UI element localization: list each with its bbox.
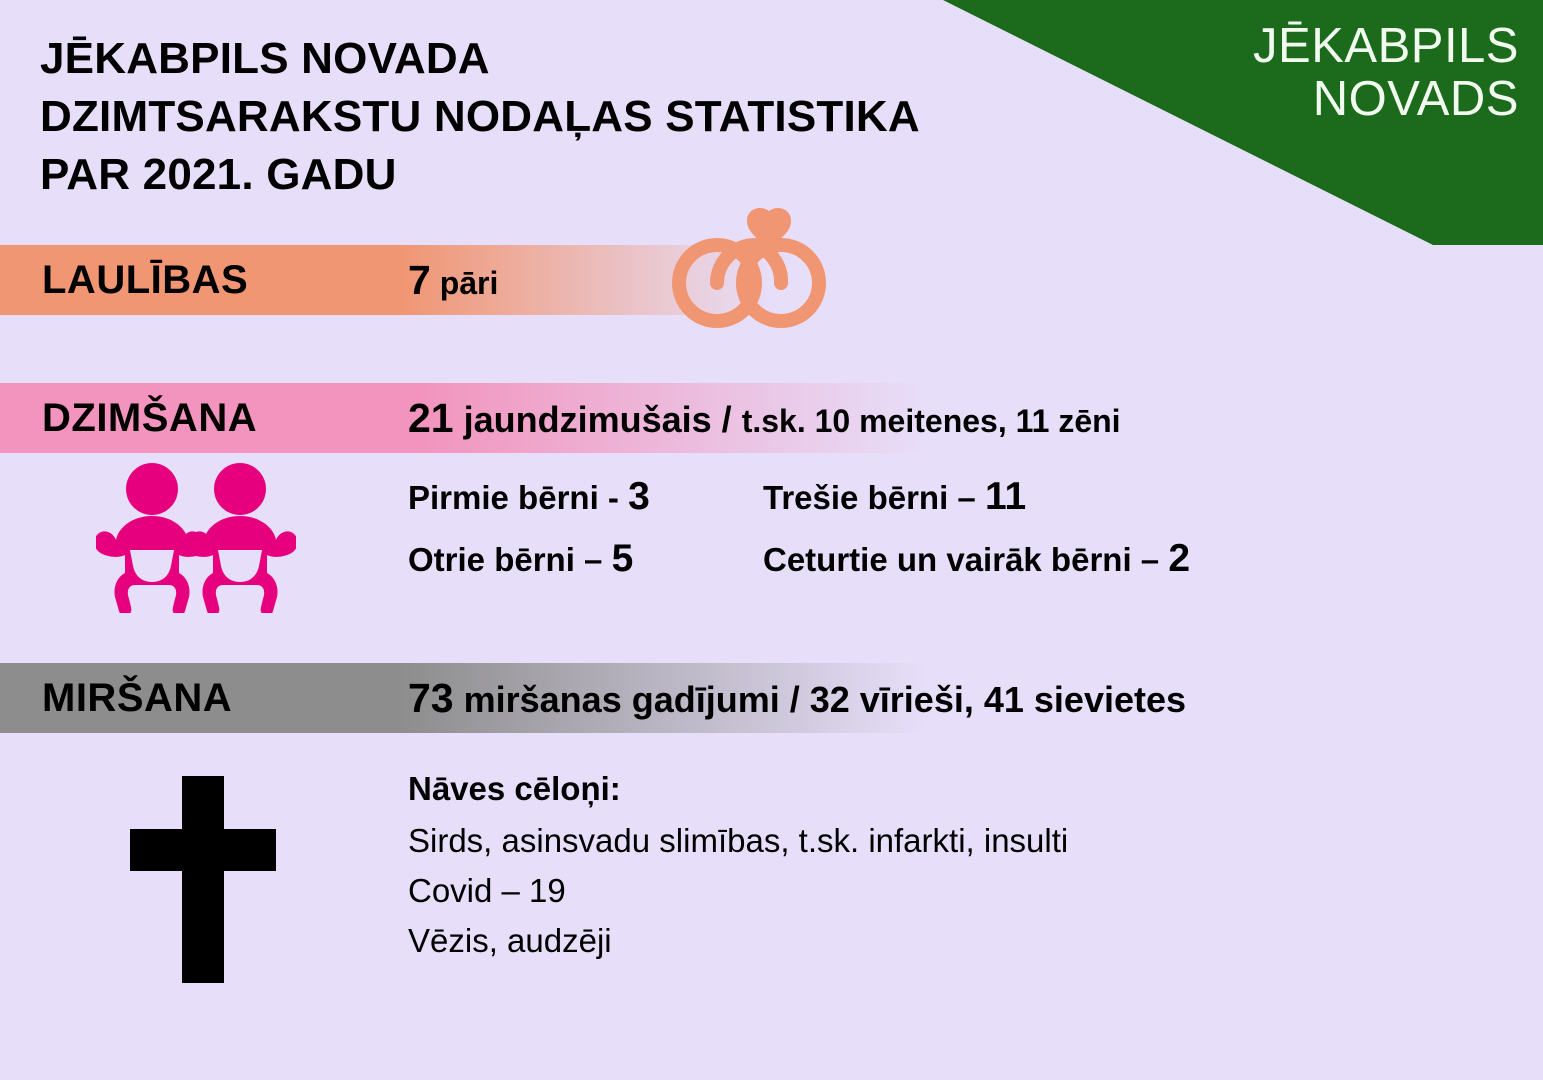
- birth-breakdown-item-2: Trešie bērni – 11: [763, 475, 1190, 519]
- page-title-line-3: PAR 2021. GADU: [40, 146, 920, 204]
- birth-unit: jaundzimušais /: [454, 399, 742, 440]
- marriage-value: 7 pāri: [408, 257, 498, 304]
- birth-breakdown-label-3: Otrie bērni –: [408, 541, 612, 578]
- birth-breakdown-label-1: Pirmie bērni -: [408, 479, 628, 516]
- two-babies-icon: [96, 458, 296, 613]
- birth-gender-split: t.sk. 10 meitenes, 11 zēni: [742, 403, 1121, 439]
- birth-value: 21 jaundzimušais / t.sk. 10 meitenes, 11…: [408, 395, 1121, 442]
- wedding-rings-icon: [665, 205, 845, 330]
- birth-label: DZIMŠANA: [42, 396, 257, 441]
- page-title-line-2: DZIMTSARAKSTU NODAĻAS STATISTIKA: [40, 88, 920, 146]
- death-causes-title: Nāves cēloņi:: [408, 770, 1068, 808]
- page-title-line-1: JĒKABPILS NOVADA: [40, 30, 920, 88]
- birth-breakdown-count-2: 11: [985, 475, 1026, 518]
- christian-cross-icon: [120, 772, 290, 987]
- death-causes: Nāves cēloņi: Sirds, asinsvadu slimības,…: [408, 770, 1068, 966]
- death-count: 73: [408, 675, 454, 721]
- birth-breakdown-count-1: 3: [628, 475, 650, 518]
- birth-breakdown: Pirmie bērni - 3 Trešie bērni – 11 Otrie…: [408, 475, 1190, 581]
- marriage-unit: pāri: [431, 265, 499, 301]
- birth-breakdown-count-4: 2: [1168, 537, 1190, 580]
- birth-breakdown-item-4: Ceturtie un vairāk bērni – 2: [763, 537, 1190, 581]
- birth-count: 21: [408, 395, 454, 441]
- birth-breakdown-item-1: Pirmie bērni - 3: [408, 475, 763, 519]
- death-gender-split: miršanas gadījumi / 32 vīrieši, 41 sievi…: [454, 679, 1186, 720]
- death-value: 73 miršanas gadījumi / 32 vīrieši, 41 si…: [408, 675, 1186, 722]
- death-cause-item-3: Vēzis, audzēji: [408, 916, 1068, 966]
- corner-banner-label: JĒKABPILS NOVADS: [1253, 20, 1519, 126]
- marriage-label: LAULĪBAS: [42, 258, 248, 303]
- infographic-poster: JĒKABPILS NOVADS JĒKABPILS NOVADA DZIMTS…: [0, 0, 1543, 1080]
- marriage-count: 7: [408, 257, 431, 303]
- birth-breakdown-label-2: Trešie bērni –: [763, 479, 985, 516]
- death-label: MIRŠANA: [42, 676, 232, 721]
- birth-breakdown-count-3: 5: [612, 537, 634, 580]
- birth-breakdown-item-3: Otrie bērni – 5: [408, 537, 763, 581]
- death-cause-item-1: Sirds, asinsvadu slimības, t.sk. infarkt…: [408, 816, 1068, 866]
- birth-band: DZIMŠANA 21 jaundzimušais / t.sk. 10 mei…: [0, 383, 1543, 453]
- birth-breakdown-label-4: Ceturtie un vairāk bērni –: [763, 541, 1168, 578]
- page-title: JĒKABPILS NOVADA DZIMTSARAKSTU NODAĻAS S…: [40, 30, 920, 204]
- death-cause-item-2: Covid – 19: [408, 866, 1068, 916]
- death-band: MIRŠANA 73 miršanas gadījumi / 32 vīrieš…: [0, 663, 1543, 733]
